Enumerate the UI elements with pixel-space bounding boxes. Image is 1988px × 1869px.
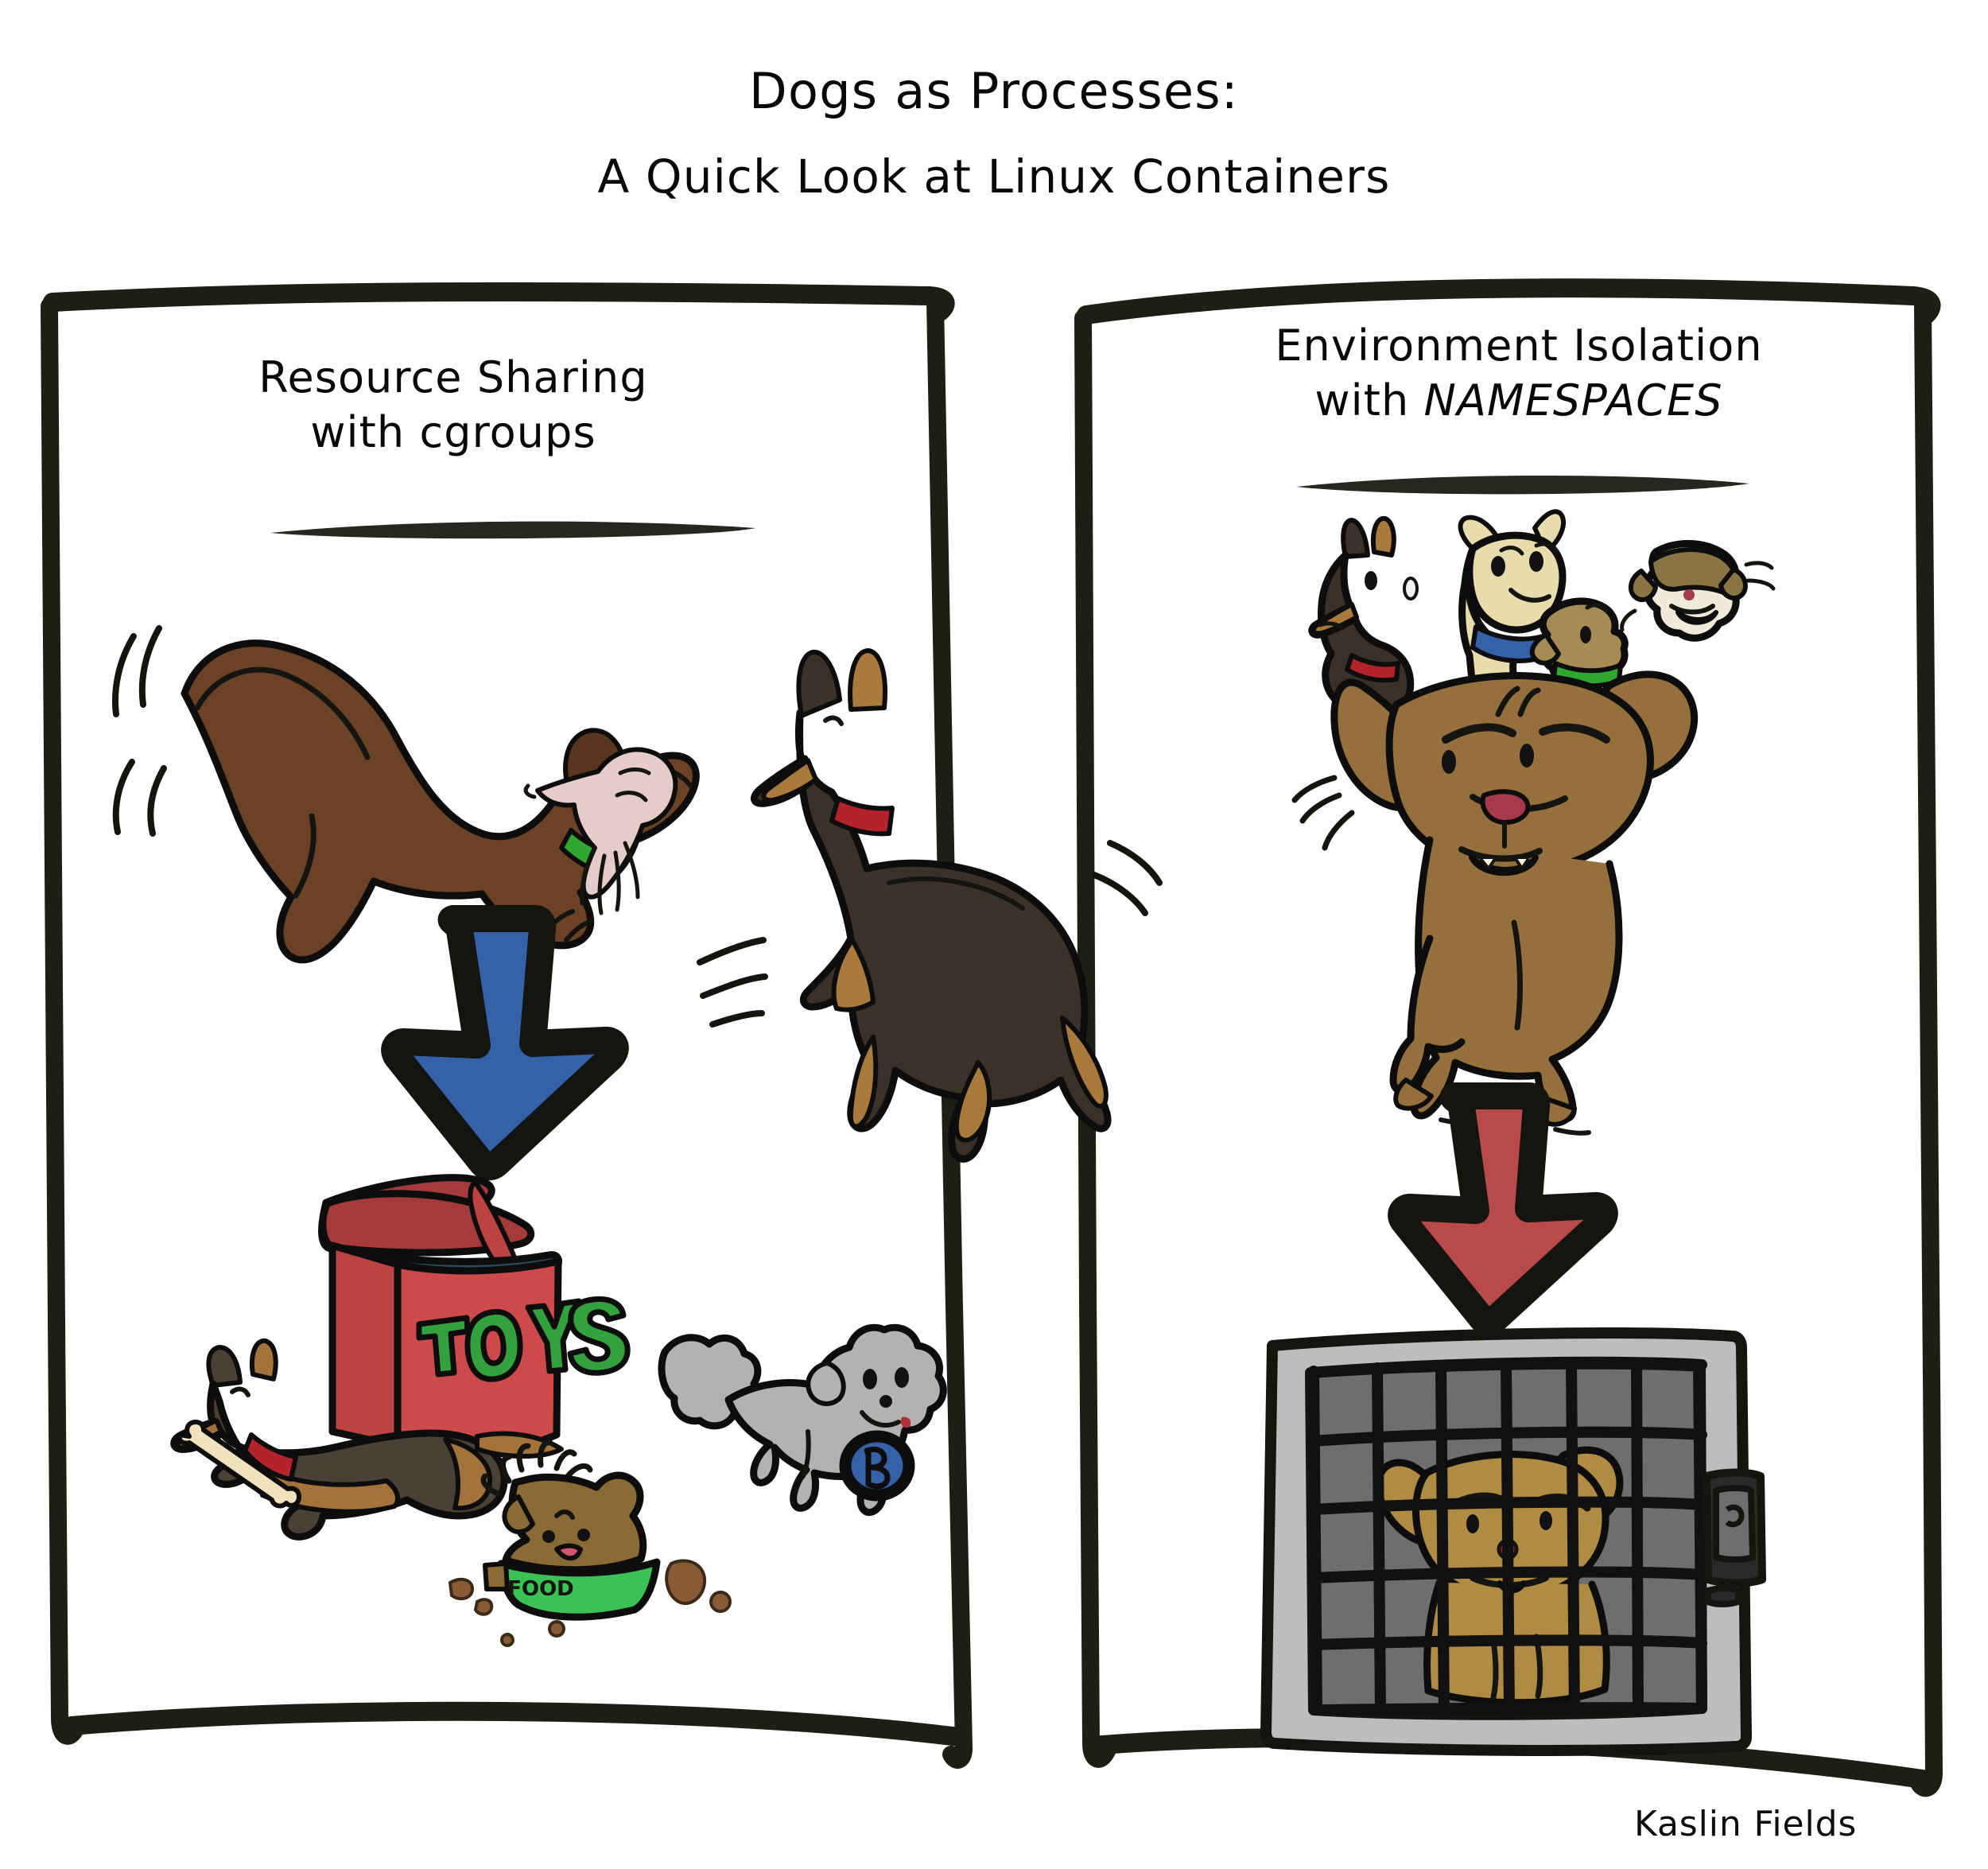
scene-dog-crate <box>1266 1333 1762 1750</box>
blue-ball <box>845 1436 909 1495</box>
dog-doberman-tugging <box>754 651 1108 1159</box>
poster-title-line1: Dogs as Processes: <box>0 62 1988 120</box>
toy-box <box>322 1178 628 1452</box>
cgroups-heading-underline <box>270 522 755 538</box>
motion-lines-right <box>1094 843 1159 913</box>
kibble-bits <box>450 1560 730 1646</box>
panel-namespaces-frame <box>1083 288 1934 1788</box>
head-shaggy-dog <box>1622 544 1773 639</box>
panel-cgroups-frame <box>49 292 964 1760</box>
dog-gray-poodle <box>662 1327 943 1512</box>
head-small-tan-dog <box>1532 601 1625 686</box>
panel-cgroups-heading: Resource Sharing with cgroups <box>95 350 811 460</box>
scene-onlooker-heads <box>1312 511 1773 715</box>
poster-title-line2: A Quick Look at Linux Containers <box>0 150 1988 204</box>
motion-lines-center <box>700 940 765 1024</box>
crated-dog <box>1378 1450 1620 1703</box>
dog-grumpy-large <box>1295 674 1695 1133</box>
food-bowl-label: FOOD <box>507 1577 574 1601</box>
scene-shared-resources: FOOD <box>174 1178 944 1646</box>
head-doberman <box>1312 519 1417 716</box>
artist-signature: Kaslin Fields <box>1634 1804 1857 1844</box>
crate-latch <box>1706 1473 1762 1605</box>
artwork-layer: .ink { fill:none; stroke:#141410; stroke… <box>0 0 1988 1869</box>
arrow-down-cgroups <box>394 919 615 1167</box>
namespaces-heading-underline <box>1296 476 1749 494</box>
panel-cgroups-heading-prefix: with <box>310 407 419 457</box>
panel-cgroups-heading-term: cgroups <box>419 407 596 457</box>
crate-bars-vertical <box>1314 1363 1702 1713</box>
panel-namespaces-heading-term: NAMESPACES <box>1424 375 1723 425</box>
scene-tug-of-war <box>115 628 1159 1159</box>
dog-brown-labrador <box>184 643 696 960</box>
panel-namespaces-heading-prefix: with <box>1314 375 1423 425</box>
head-cream-dog <box>1461 511 1563 696</box>
panel-namespaces-heading-line1: Environment Isolation <box>1275 321 1762 371</box>
toy-plush <box>526 749 675 913</box>
arrow-down-namespaces <box>1401 1096 1605 1322</box>
crate-bars-horizontal <box>1312 1362 1702 1710</box>
toy-box-label <box>419 1299 627 1379</box>
poster-canvas: Dogs as Processes: A Quick Look at Linux… <box>0 0 1988 1869</box>
motion-lines-left <box>115 628 164 833</box>
dog-doberman-with-bone <box>174 1341 561 1537</box>
dog-at-food-bowl: FOOD <box>450 1443 730 1646</box>
panel-cgroups-heading-line1: Resource Sharing <box>258 352 647 402</box>
panel-namespaces-heading: Environment Isolation with NAMESPACES <box>1145 318 1893 428</box>
